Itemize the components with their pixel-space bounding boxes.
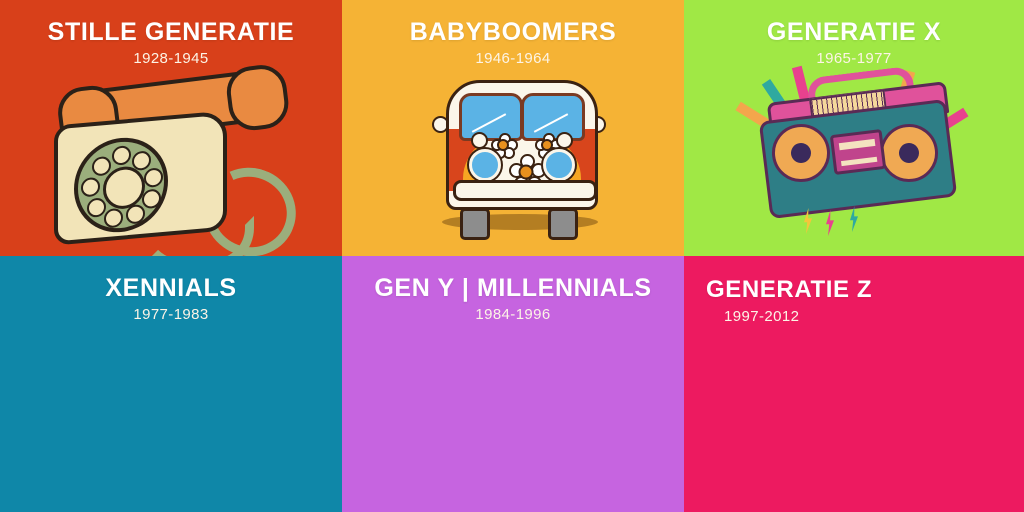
boombox-illustration	[746, 58, 962, 238]
bus-headlight-right	[543, 149, 575, 181]
bus-flower-left	[493, 135, 513, 155]
panel-generatie-x: GENERATIE X 1965-1977	[684, 0, 1024, 256]
rotary-telephone-illustration	[48, 76, 298, 241]
panel-title: GENERATIE Z	[706, 276, 872, 304]
panel-years: 1997-2012	[724, 308, 799, 325]
panel-title: BABYBOOMERS	[342, 18, 684, 47]
bus-lamp-right	[556, 132, 573, 149]
panel-title: GENERATIE X	[684, 18, 1024, 47]
vw-bus-illustration	[434, 72, 604, 232]
bus-bumper	[453, 180, 597, 201]
lightning-bolt	[826, 210, 834, 236]
bus-body	[446, 80, 598, 210]
bus-wheel-right	[548, 208, 578, 240]
lightning-bolt	[850, 206, 858, 232]
panel-gen-y-millennials: GEN Y | MILLENNIALS 1984-1996 MP3 Music	[342, 256, 684, 512]
panel-years: 1946-1964	[342, 50, 684, 67]
bus-lamp-left	[471, 132, 488, 149]
panel-stille-generatie: STILLE GENERATIE 1928-1945	[0, 0, 342, 256]
panel-years: 1977-1983	[0, 306, 342, 323]
panel-years: 1965-1977	[684, 50, 1024, 67]
sound-ray	[792, 66, 810, 101]
panel-title: XENNIALS	[0, 274, 342, 303]
phone-dial-hub	[103, 165, 145, 211]
panel-xennials: XENNIALS 1977-1983 02 juni 24 Thursday	[0, 256, 342, 512]
panel-babyboomers: BABYBOOMERS 1946-1964	[342, 0, 684, 256]
boombox-cassette-deck	[830, 129, 886, 175]
generations-infographic: STILLE GENERATIE 1928-1945 BABYBOOMERS 1…	[0, 0, 1024, 512]
panel-title: GEN Y | MILLENNIALS	[342, 274, 684, 303]
panel-years: 1984-1996	[342, 306, 684, 323]
bus-wheel-left	[460, 208, 490, 240]
panel-years: 1928-1945	[0, 50, 342, 67]
bus-window-left	[459, 93, 523, 141]
panel-generatie-z: GENERATIE Z 1997-2012	[684, 256, 1024, 512]
bus-headlight-left	[469, 149, 501, 181]
panel-title: STILLE GENERATIE	[0, 18, 342, 47]
